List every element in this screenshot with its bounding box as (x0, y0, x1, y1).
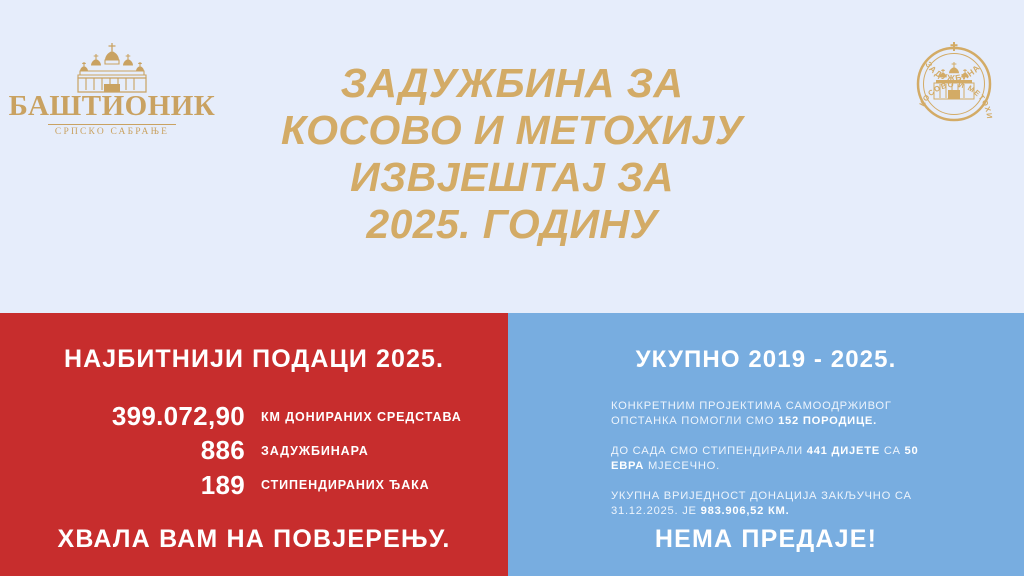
logo-divider (48, 124, 176, 125)
title-line-4: 2025. ГОДИНУ (205, 201, 819, 248)
left-panel-heading: НАЈБИТНИЈИ ПОДАЦИ 2025. (0, 345, 508, 374)
orthodox-church-icon (64, 40, 160, 94)
paragraph-mid: СА (880, 445, 905, 457)
panels-row: НАЈБИТНИЈИ ПОДАЦИ 2025. 399.072,90 КМ ДО… (0, 313, 1024, 576)
page-title: ЗАДУЖБИНА ЗА КОСОВО И МЕТОХИЈУ ИЗВЈЕШТАЈ… (205, 60, 819, 248)
paragraph-lead: ДО САДА СМО СТИПЕНДИРАЛИ (611, 445, 807, 457)
paragraph-strong: 983.906,52 КМ. (701, 505, 790, 517)
stat-value: 399.072,90 (0, 403, 245, 430)
stat-value: 886 (0, 437, 245, 464)
stat-row: 886 ЗАДУЖБИНАРА (0, 437, 508, 464)
stat-value: 189 (0, 472, 245, 499)
paragraph-strong: 152 ПОРОДИЦЕ. (778, 415, 877, 427)
stat-row: 189 СТИПЕНДИРАНИХ ЂАКА (0, 472, 508, 499)
stat-row: 399.072,90 КМ ДОНИРАНИХ СРЕДСТАВА (0, 403, 508, 430)
logo-subtitle: СРПСКО САБРАЊЕ (55, 127, 169, 137)
infographic-page: БАШТИОНИК СРПСКО САБРАЊЕ ЗАДУЖБИНА ЗА КО… (0, 0, 1024, 576)
left-panel-key-figures: НАЈБИТНИЈИ ПОДАЦИ 2025. 399.072,90 КМ ДО… (0, 313, 508, 576)
right-panel-totals: УКУПНО 2019 - 2025. КОНКРЕТНИМ ПРОЈЕКТИМ… (508, 313, 1024, 576)
stat-label: КМ ДОНИРАНИХ СРЕДСТАВА (245, 410, 508, 424)
totals-paragraph: УКУПНА ВРИЈЕДНОСТ ДОНАЦИЈА ЗАКЉУЧНО СА 3… (611, 489, 941, 518)
left-panel-footer: ХВАЛА ВАМ НА ПОВЈЕРЕЊУ. (0, 525, 508, 554)
bastionik-logo: БАШТИОНИК СРПСКО САБРАЊЕ (26, 33, 198, 137)
totals-paragraphs: КОНКРЕТНИМ ПРОЈЕКТИМА САМООДРЖИВОГ ОПСТА… (611, 399, 941, 518)
title-line-2: КОСОВО И МЕТОХИЈУ (205, 107, 819, 154)
right-panel-footer: НЕМА ПРЕДАЈЕ! (508, 525, 1024, 554)
totals-paragraph: КОНКРЕТНИМ ПРОЈЕКТИМА САМООДРЖИВОГ ОПСТА… (611, 399, 941, 428)
title-line-1: ЗАДУЖБИНА ЗА (205, 60, 819, 107)
paragraph-strong: 441 ДИЈЕТЕ (807, 445, 880, 457)
endowment-seal: ЗАДУЖБИНА КОСОВО И МЕТОХИЈУ (908, 38, 1000, 130)
endowment-seal-icon: ЗАДУЖБИНА КОСОВО И МЕТОХИЈУ (908, 38, 1000, 130)
stat-label: ЗАДУЖБИНАРА (245, 444, 508, 458)
stat-label: СТИПЕНДИРАНИХ ЂАКА (245, 478, 508, 492)
paragraph-tail: МЈЕСЕЧНО. (644, 460, 720, 472)
header-band: БАШТИОНИК СРПСКО САБРАЊЕ ЗАДУЖБИНА ЗА КО… (0, 0, 1024, 313)
totals-paragraph: ДО САДА СМО СТИПЕНДИРАЛИ 441 ДИЈЕТЕ СА 5… (611, 444, 941, 473)
title-line-3: ИЗВЈЕШТАЈ ЗА (205, 154, 819, 201)
right-panel-heading: УКУПНО 2019 - 2025. (508, 346, 1024, 374)
logo-wordmark: БАШТИОНИК (9, 92, 216, 121)
key-figures-list: 399.072,90 КМ ДОНИРАНИХ СРЕДСТАВА 886 ЗА… (0, 403, 508, 499)
